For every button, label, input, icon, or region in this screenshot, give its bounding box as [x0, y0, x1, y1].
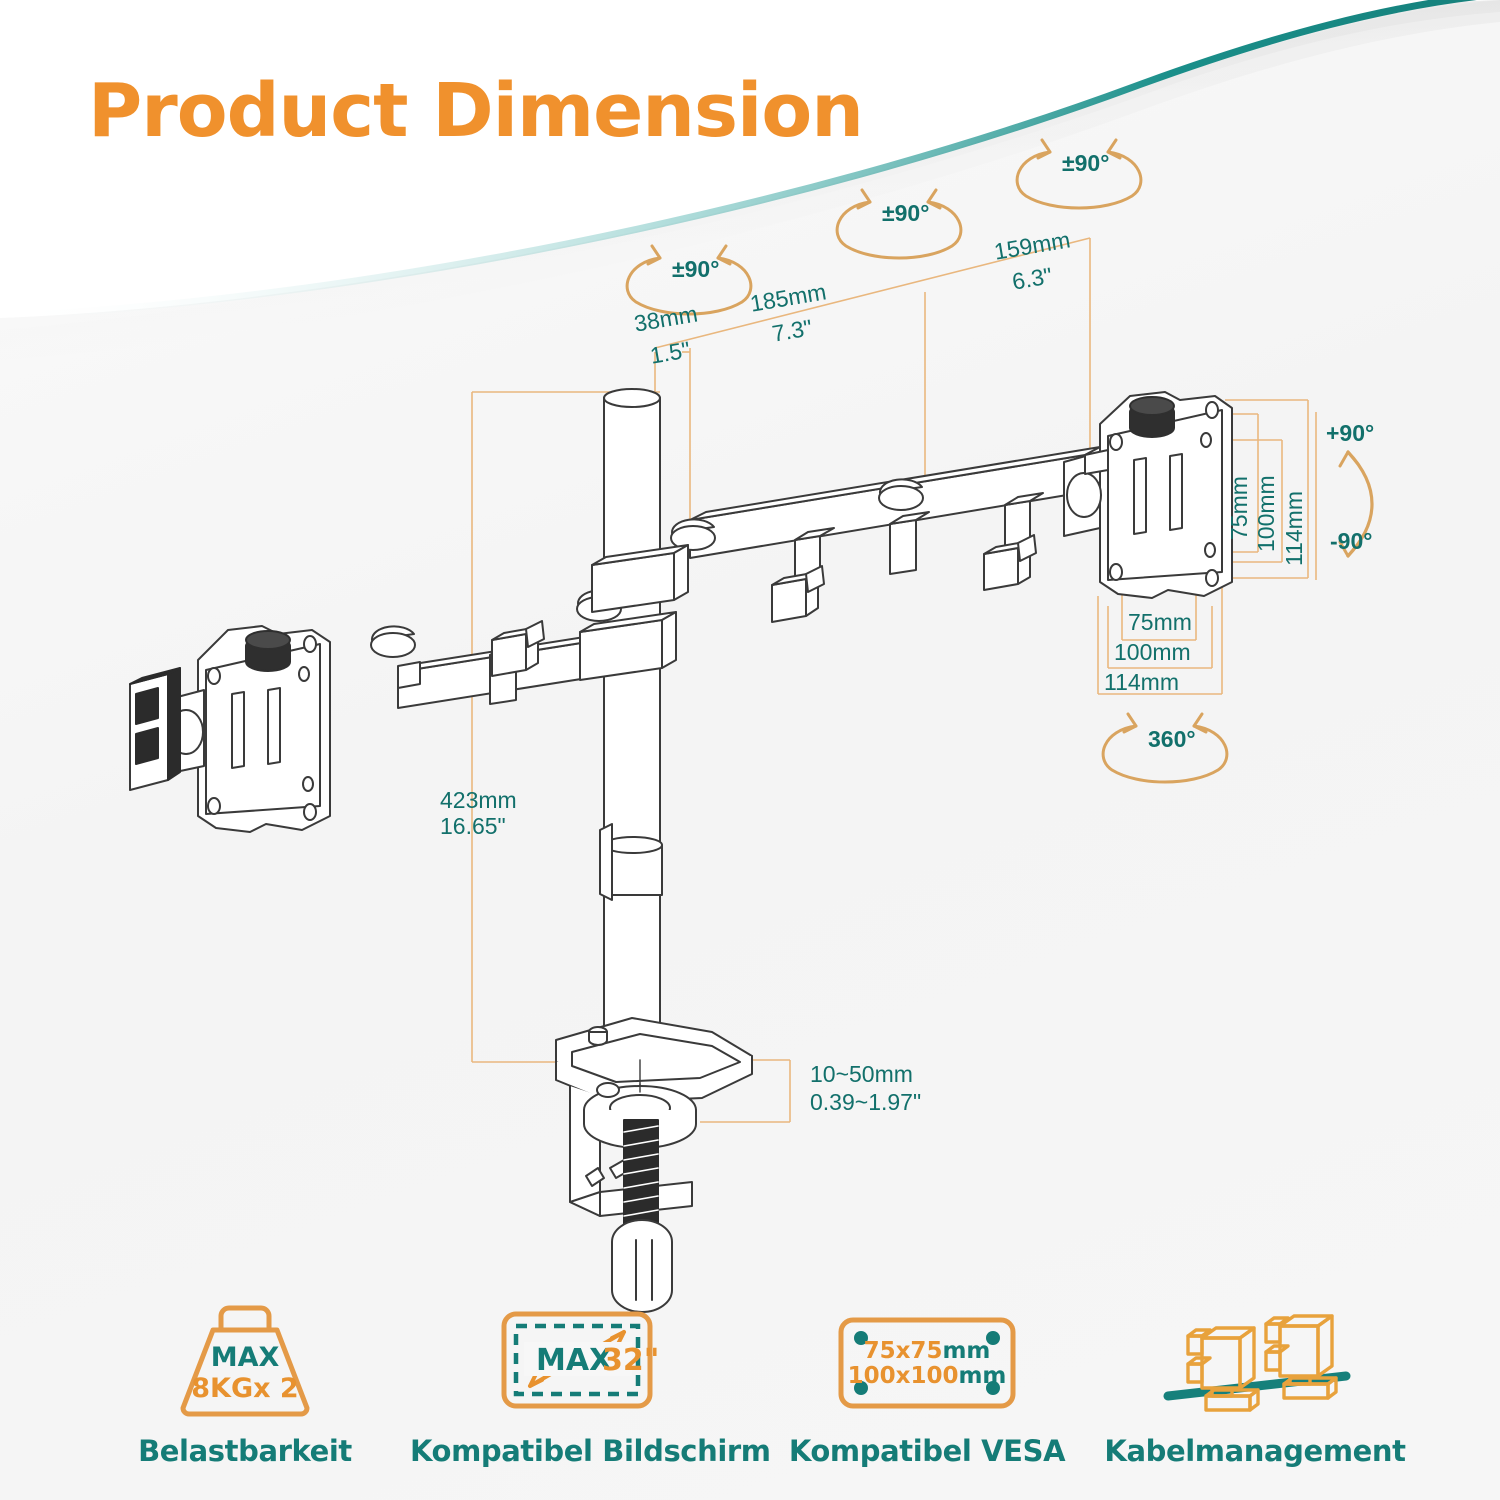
badge-left-arm-rotation: ±90°	[672, 256, 719, 283]
dim-desk-thickness-mm: 10~50mm	[810, 1060, 913, 1088]
screen-icon-value-text: 32"	[602, 1343, 659, 1378]
tilt-up-label: +90°	[1326, 420, 1374, 447]
vesa-vertical-114: 114mm	[1280, 491, 1308, 566]
vesa-icon-line1: 75x75mm	[864, 1338, 991, 1364]
feature-belastbarkeit: MAX 8KGx 2 Belastbarkeit	[80, 1300, 410, 1468]
vesa-icon-line2: 100x100mm	[848, 1363, 1007, 1389]
screen-icon-max-text: MAX	[536, 1343, 612, 1378]
vesa-horizontal-114: 114mm	[1104, 668, 1179, 696]
feature-caption-kabelmanagement: Kabelmanagement	[1090, 1434, 1420, 1468]
badge-right-arm-rotation: ±90°	[1062, 150, 1109, 177]
vesa-horizontal-100: 100mm	[1114, 638, 1191, 666]
product-dimension-page: Product Dimension	[0, 0, 1500, 1500]
feature-caption-belastbarkeit: Belastbarkeit	[80, 1434, 410, 1468]
weight-icon-max-text: MAX	[211, 1342, 280, 1373]
vesa-vertical-75: 75mm	[1225, 476, 1253, 540]
feature-kabelmanagement: Kabelmanagement	[1090, 1300, 1420, 1468]
weight-icon-value-text: 8KGx 2	[191, 1373, 298, 1404]
badge-mid-arm-rotation: ±90°	[882, 200, 929, 227]
feature-bildschirm: MAX 32" Kompatibel Bildschirm	[410, 1300, 740, 1468]
feature-vesa: 75x75mm 100x100mm Kompatibel VESA	[762, 1300, 1092, 1468]
cable-management-icon	[1090, 1300, 1420, 1420]
feature-caption-bildschirm: Kompatibel Bildschirm	[410, 1434, 740, 1468]
mount-linework	[130, 389, 1232, 1312]
badge-monitor-swivel: 360°	[1148, 726, 1196, 753]
vesa-horizontal-75: 75mm	[1128, 608, 1192, 636]
dim-pole-height-inch: 16.65"	[440, 812, 506, 840]
weight-icon: MAX 8KGx 2	[80, 1300, 410, 1420]
tilt-down-label: -90°	[1330, 528, 1372, 555]
dim-pole-height-mm: 423mm	[440, 786, 517, 814]
dimension-lines	[472, 238, 1316, 1122]
vesa-vertical-100: 100mm	[1252, 475, 1280, 552]
vesa-pattern-icon: 75x75mm 100x100mm	[762, 1300, 1092, 1420]
dim-desk-thickness-inch: 0.39~1.97"	[810, 1088, 921, 1116]
feature-caption-vesa: Kompatibel VESA	[762, 1434, 1092, 1468]
monitor-mount-technical-drawing	[0, 0, 1500, 1500]
screen-size-icon: MAX 32"	[410, 1300, 740, 1420]
